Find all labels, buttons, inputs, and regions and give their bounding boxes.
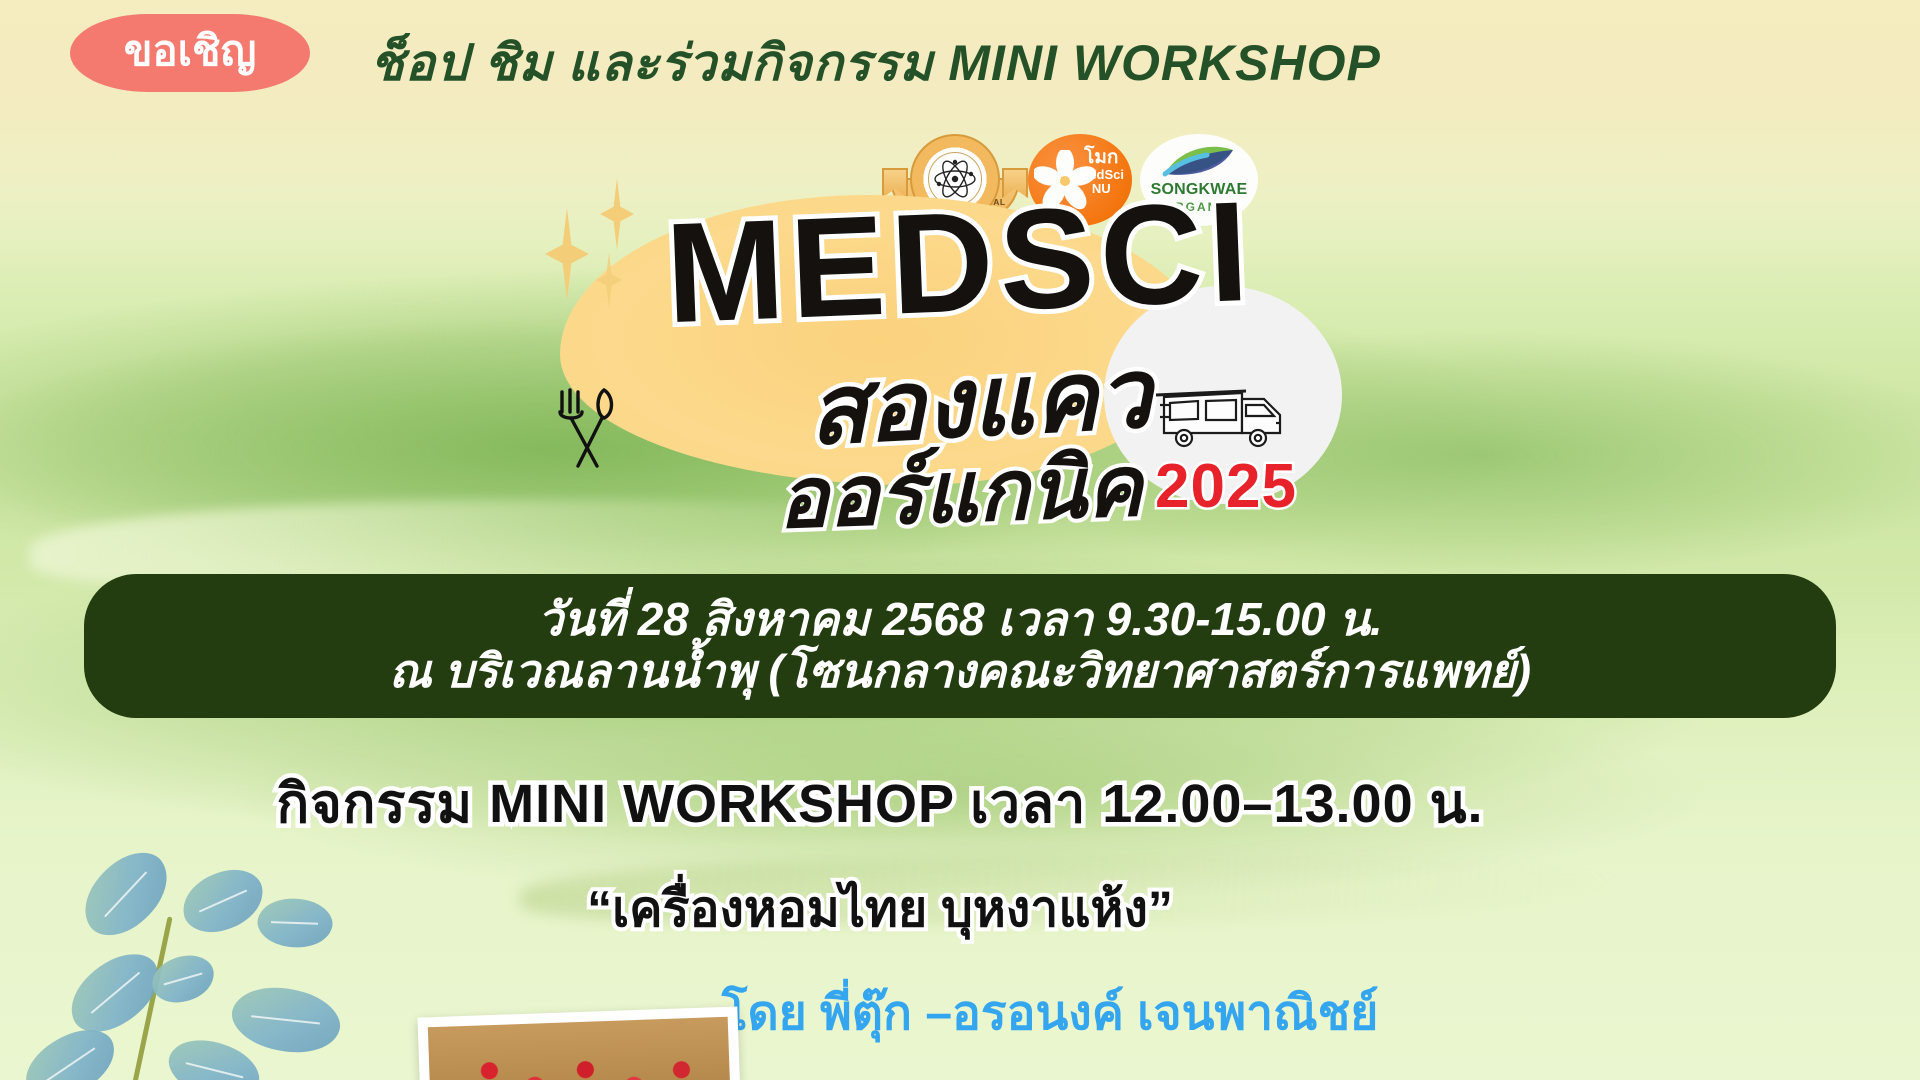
product-photo-card bbox=[417, 1006, 742, 1080]
workshop-speaker: โดย พี่ตุ๊ก –อรอนงค์ เจนพาณิชย์ bbox=[90, 975, 1920, 1051]
event-year: 2025 bbox=[1148, 456, 1304, 518]
food-truck-icon bbox=[1146, 375, 1296, 455]
page-title: ช็อป ชิม และร่วมกิจกรรม MINI WORKSHOP bbox=[370, 24, 1381, 103]
fork-and-spoon-icon bbox=[552, 382, 622, 472]
poster-root: ขอเชิญ ช็อป ชิม และร่วมกิจกรรม MINI WORK… bbox=[0, 0, 1920, 1080]
mok-logo-line1: โมก bbox=[1078, 148, 1124, 168]
invite-badge: ขอเชิญ bbox=[70, 14, 310, 92]
banner-location: ณ บริเวณลานน้ำพุ (โซนกลางคณะวิทยาศาสตร์ก… bbox=[389, 646, 1531, 698]
date-place-banner: วันที่ 28 สิงหาคม 2568 เวลา 9.30-15.00 น… bbox=[84, 574, 1836, 718]
banner-date-time: วันที่ 28 สิงหาคม 2568 เวลา 9.30-15.00 น… bbox=[537, 594, 1382, 646]
invite-badge-label: ขอเชิญ bbox=[124, 30, 257, 72]
workshop-heading: กิจกรรม MINI WORKSHOP เวลา 12.00–13.00 น… bbox=[0, 760, 1840, 846]
product-photo-image bbox=[428, 1017, 732, 1080]
